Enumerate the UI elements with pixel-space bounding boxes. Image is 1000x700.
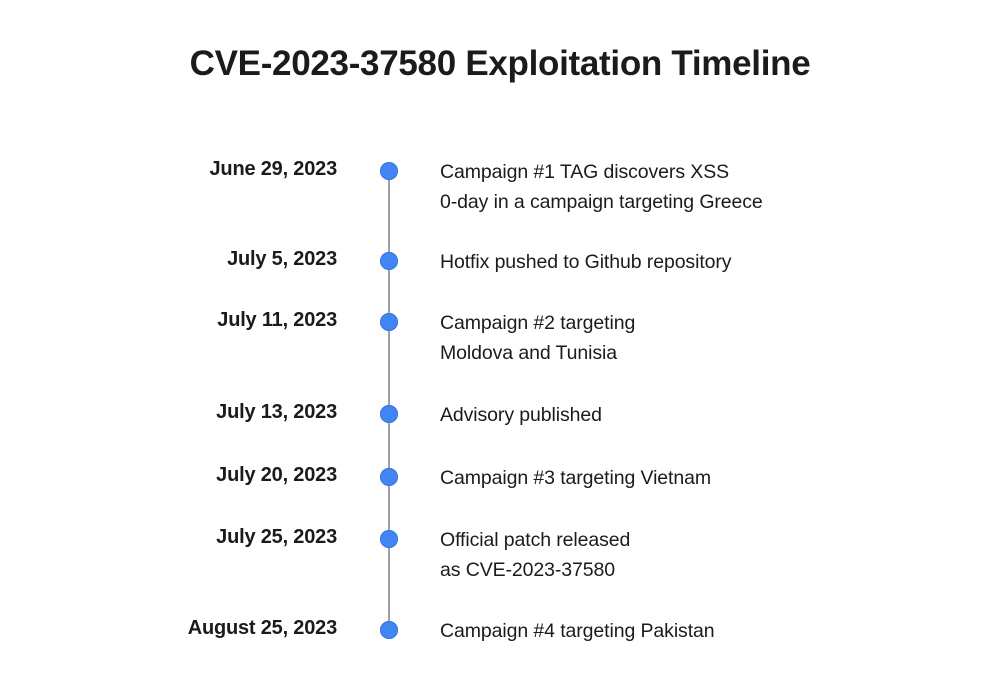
timeline-event-description: Campaign #3 targeting Vietnam (440, 463, 960, 493)
timeline-event-dot-icon (380, 405, 398, 423)
timeline-event-dot-icon (380, 252, 398, 270)
page-title: CVE-2023-37580 Exploitation Timeline (0, 44, 1000, 84)
timeline-event-description-line: Campaign #3 targeting Vietnam (440, 463, 960, 493)
timeline-event-description-line: Hotfix pushed to Github repository (440, 247, 960, 277)
timeline-event-description-line: Official patch released (440, 525, 960, 555)
timeline-event-description-line: Moldova and Tunisia (440, 338, 960, 368)
timeline-event-description-line: 0-day in a campaign targeting Greece (440, 187, 960, 217)
timeline-event-dot-icon (380, 162, 398, 180)
timeline-axis-line (388, 171, 390, 630)
timeline-event-date: July 13, 2023 (37, 401, 337, 424)
timeline-event-description: Hotfix pushed to Github repository (440, 247, 960, 277)
timeline-event-description-line: Campaign #1 TAG discovers XSS (440, 157, 960, 187)
timeline-event-date: July 20, 2023 (37, 464, 337, 487)
timeline-event-description: Official patch releasedas CVE-2023-37580 (440, 525, 960, 585)
timeline-event-description: Advisory published (440, 400, 960, 430)
timeline-event-dot-icon (380, 621, 398, 639)
timeline-event-date: June 29, 2023 (37, 158, 337, 181)
timeline-event-dot-icon (380, 468, 398, 486)
timeline-event-description-line: Advisory published (440, 400, 960, 430)
timeline-event-dot-icon (380, 530, 398, 548)
timeline-event-date: July 5, 2023 (37, 248, 337, 271)
timeline-event-dot-icon (380, 313, 398, 331)
timeline-event-description-line: Campaign #2 targeting (440, 308, 960, 338)
timeline-event-date: July 11, 2023 (37, 309, 337, 332)
timeline-event-date: August 25, 2023 (37, 617, 337, 640)
timeline-event-description: Campaign #2 targetingMoldova and Tunisia (440, 308, 960, 368)
timeline-event-description: Campaign #1 TAG discovers XSS0-day in a … (440, 157, 960, 217)
timeline-event-description-line: Campaign #4 targeting Pakistan (440, 616, 960, 646)
timeline-event-date: July 25, 2023 (37, 526, 337, 549)
timeline-page: CVE-2023-37580 Exploitation Timeline Jun… (0, 0, 1000, 700)
timeline-event-description: Campaign #4 targeting Pakistan (440, 616, 960, 646)
timeline-event-description-line: as CVE-2023-37580 (440, 555, 960, 585)
